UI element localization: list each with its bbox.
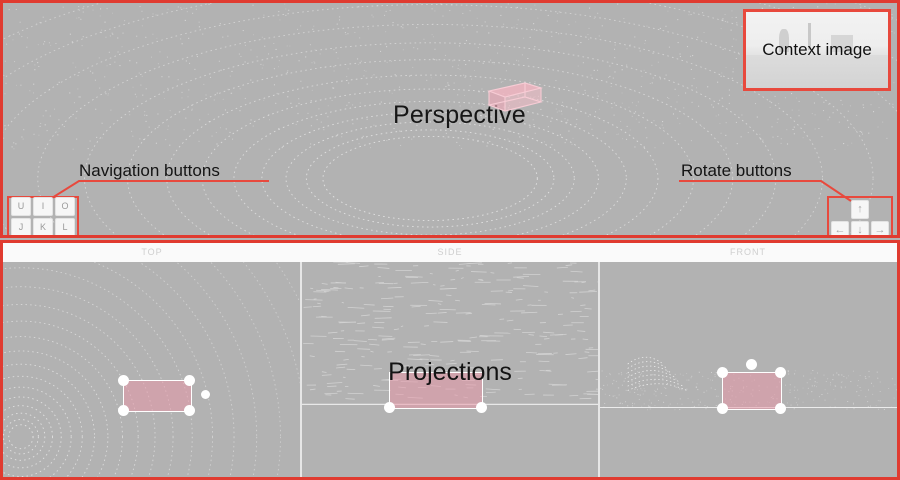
navigation-buttons-callout-label: Navigation buttons bbox=[79, 161, 220, 181]
rotate-spacer-left bbox=[831, 200, 849, 219]
context-image-label: Context image bbox=[746, 40, 888, 60]
nav-key-o[interactable]: O bbox=[55, 197, 75, 216]
projection-views-container: Projections bbox=[3, 262, 897, 477]
projections-panel[interactable]: TOP SIDE FRONT bbox=[0, 240, 900, 480]
projection-title-top: TOP bbox=[3, 243, 301, 262]
bbox-side-handle-br[interactable] bbox=[476, 402, 487, 413]
projection-title-front: FRONT bbox=[599, 243, 897, 262]
bbox-top-view[interactable] bbox=[123, 380, 192, 412]
lidar-annotation-tool: Perspective Context image bbox=[0, 0, 900, 480]
navigation-buttons-group[interactable]: U I O J K L bbox=[7, 196, 79, 238]
bbox-top-handle-br[interactable] bbox=[184, 405, 195, 416]
navigation-callout-leader-line bbox=[47, 179, 272, 203]
projection-view-front[interactable] bbox=[598, 262, 897, 477]
rotate-row-top: ↑ bbox=[831, 200, 889, 219]
context-image-panel[interactable]: Context image bbox=[743, 9, 891, 91]
rotate-right-arrow-icon[interactable]: → bbox=[871, 221, 889, 238]
nav-key-i[interactable]: I bbox=[33, 197, 53, 216]
navigation-row-bottom: J K L bbox=[11, 218, 75, 237]
perspective-view-panel[interactable]: Perspective Context image bbox=[0, 0, 900, 238]
bbox-top-handle-heading[interactable] bbox=[201, 390, 210, 399]
bbox-top-handle-tr[interactable] bbox=[184, 375, 195, 386]
rotate-left-arrow-icon[interactable]: ← bbox=[831, 221, 849, 238]
rotate-down-arrow-icon[interactable]: ↓ bbox=[851, 221, 869, 238]
nav-key-l[interactable]: L bbox=[55, 218, 75, 237]
projection-title-side: SIDE bbox=[301, 243, 599, 262]
nav-key-j[interactable]: J bbox=[11, 218, 31, 237]
projection-view-side[interactable]: Projections bbox=[300, 262, 599, 477]
rotate-row-bottom: ← ↓ → bbox=[831, 221, 889, 238]
bbox-front-view[interactable] bbox=[722, 372, 782, 410]
bbox-top-handle-bl[interactable] bbox=[118, 405, 129, 416]
rotate-buttons-callout-label: Rotate buttons bbox=[681, 161, 792, 181]
navigation-row-top: U I O bbox=[11, 197, 75, 216]
bbox-side-handle-bl[interactable] bbox=[384, 402, 395, 413]
rotate-up-arrow-icon[interactable]: ↑ bbox=[851, 200, 869, 219]
nav-key-u[interactable]: U bbox=[11, 197, 31, 216]
cuboid-3d-box[interactable] bbox=[485, 79, 545, 115]
projection-view-top[interactable] bbox=[3, 262, 300, 477]
nav-key-k[interactable]: K bbox=[33, 218, 53, 237]
bbox-top-handle-tl[interactable] bbox=[118, 375, 129, 386]
point-cloud-top bbox=[3, 262, 300, 477]
rotate-buttons-group[interactable]: ↑ ← ↓ → bbox=[827, 196, 893, 238]
bbox-side-view[interactable] bbox=[389, 372, 483, 409]
projection-titles-bar: TOP SIDE FRONT bbox=[3, 243, 897, 262]
rotate-spacer-right bbox=[871, 200, 889, 219]
point-cloud-side bbox=[302, 262, 599, 477]
